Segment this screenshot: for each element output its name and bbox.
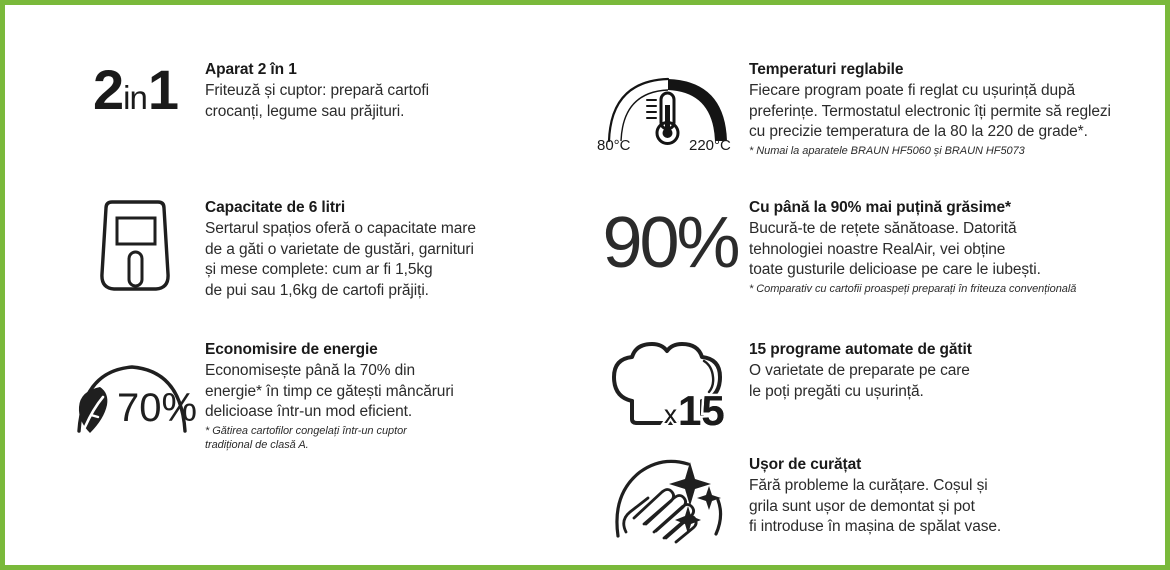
feature-title: Economisire de energie (205, 339, 535, 360)
feature-footnote: * Comparativ cu cartofii proaspeți prepa… (749, 282, 1170, 296)
temp-min-label: 80°C (597, 137, 631, 153)
feature-body: Fără probleme la curățare. Coșul și gril… (749, 476, 1170, 538)
feature-text: Capacitate de 6 litri Sertarul spațios o… (205, 193, 535, 301)
two-in-one-digit-right: 1 (148, 62, 177, 118)
ninety-percent-wordmark-icon: 90% (591, 193, 749, 293)
feature-footnote: * Numai la aparatele BRAUN HF5060 și BRA… (749, 144, 1170, 158)
temperature-gauge-icon: 80°C 220°C (591, 55, 749, 161)
feature-capacity-6l: Capacitate de 6 litri Sertarul spațios o… (65, 193, 535, 301)
feature-title: Ușor de curățat (749, 454, 1170, 475)
two-in-one-wordmark-icon: 2 in 1 (65, 55, 205, 125)
feature-body: Bucură-te de rețete sănătoase. Datorită … (749, 219, 1170, 281)
feature-body: Sertarul spațios oferă o capacitate mare… (205, 219, 535, 301)
two-in-one-word-in: in (122, 81, 148, 114)
temp-max-label: 220°C (689, 137, 731, 153)
leaf-arc-70-icon: 70% (65, 335, 205, 465)
chef-hat-icon: x x 15 15 (591, 335, 749, 435)
feature-title: Capacitate de 6 litri (205, 197, 535, 218)
feature-title: Cu până la 90% mai puțină grăsime* (749, 197, 1170, 218)
air-fryer-icon (65, 193, 205, 299)
two-in-one-digit-left: 2 (93, 62, 122, 118)
feature-text: Ușor de curățat Fără probleme la curățar… (749, 450, 1170, 538)
feature-body: Economisește până la 70% din energie* în… (205, 361, 535, 423)
ninety-percent-label: 90% (602, 207, 737, 279)
feature-less-fat-90: 90% Cu până la 90% mai puțină grăsime* B… (591, 193, 1170, 296)
feature-appliance-2in1: 2 in 1 Aparat 2 în 1 Friteuză și cuptor:… (65, 55, 535, 125)
feature-text: Economisire de energie Economisește până… (205, 335, 535, 452)
feature-easy-to-clean: Ușor de curățat Fără probleme la curățar… (591, 450, 1170, 550)
product-feature-infographic: 2 in 1 Aparat 2 în 1 Friteuză și cuptor:… (0, 0, 1170, 570)
feature-energy-saving: 70% Economisire de energie Economisește … (65, 335, 535, 465)
svg-text:15: 15 (678, 387, 725, 427)
cleaning-hand-sparkle-icon (591, 450, 749, 550)
feature-title: 15 programe automate de gătit (749, 339, 1170, 360)
feature-adjustable-temperatures: 80°C 220°C Temperaturi reglabile Fiecare… (591, 55, 1170, 161)
feature-title: Temperaturi reglabile (749, 59, 1170, 80)
feature-text: Cu până la 90% mai puțină grăsime* Bucur… (749, 193, 1170, 296)
energy-percent-label: 70% (117, 386, 197, 430)
svg-text:x: x (664, 399, 677, 427)
feature-body: O varietate de preparate pe care le poți… (749, 361, 1170, 402)
feature-text: Temperaturi reglabile Fiecare program po… (749, 55, 1170, 158)
feature-text: Aparat 2 în 1 Friteuză și cuptor: prepar… (205, 55, 535, 122)
feature-title: Aparat 2 în 1 (205, 59, 535, 80)
feature-footnote: * Gătirea cartofilor congelați într-un c… (205, 424, 535, 452)
feature-text: 15 programe automate de gătit O varietat… (749, 335, 1170, 402)
feature-15-auto-programs: x x 15 15 15 programe automate de gătit … (591, 335, 1170, 435)
feature-body: Fiecare program poate fi reglat cu ușuri… (749, 81, 1170, 143)
feature-body: Friteuză și cuptor: prepară cartofi croc… (205, 81, 535, 122)
